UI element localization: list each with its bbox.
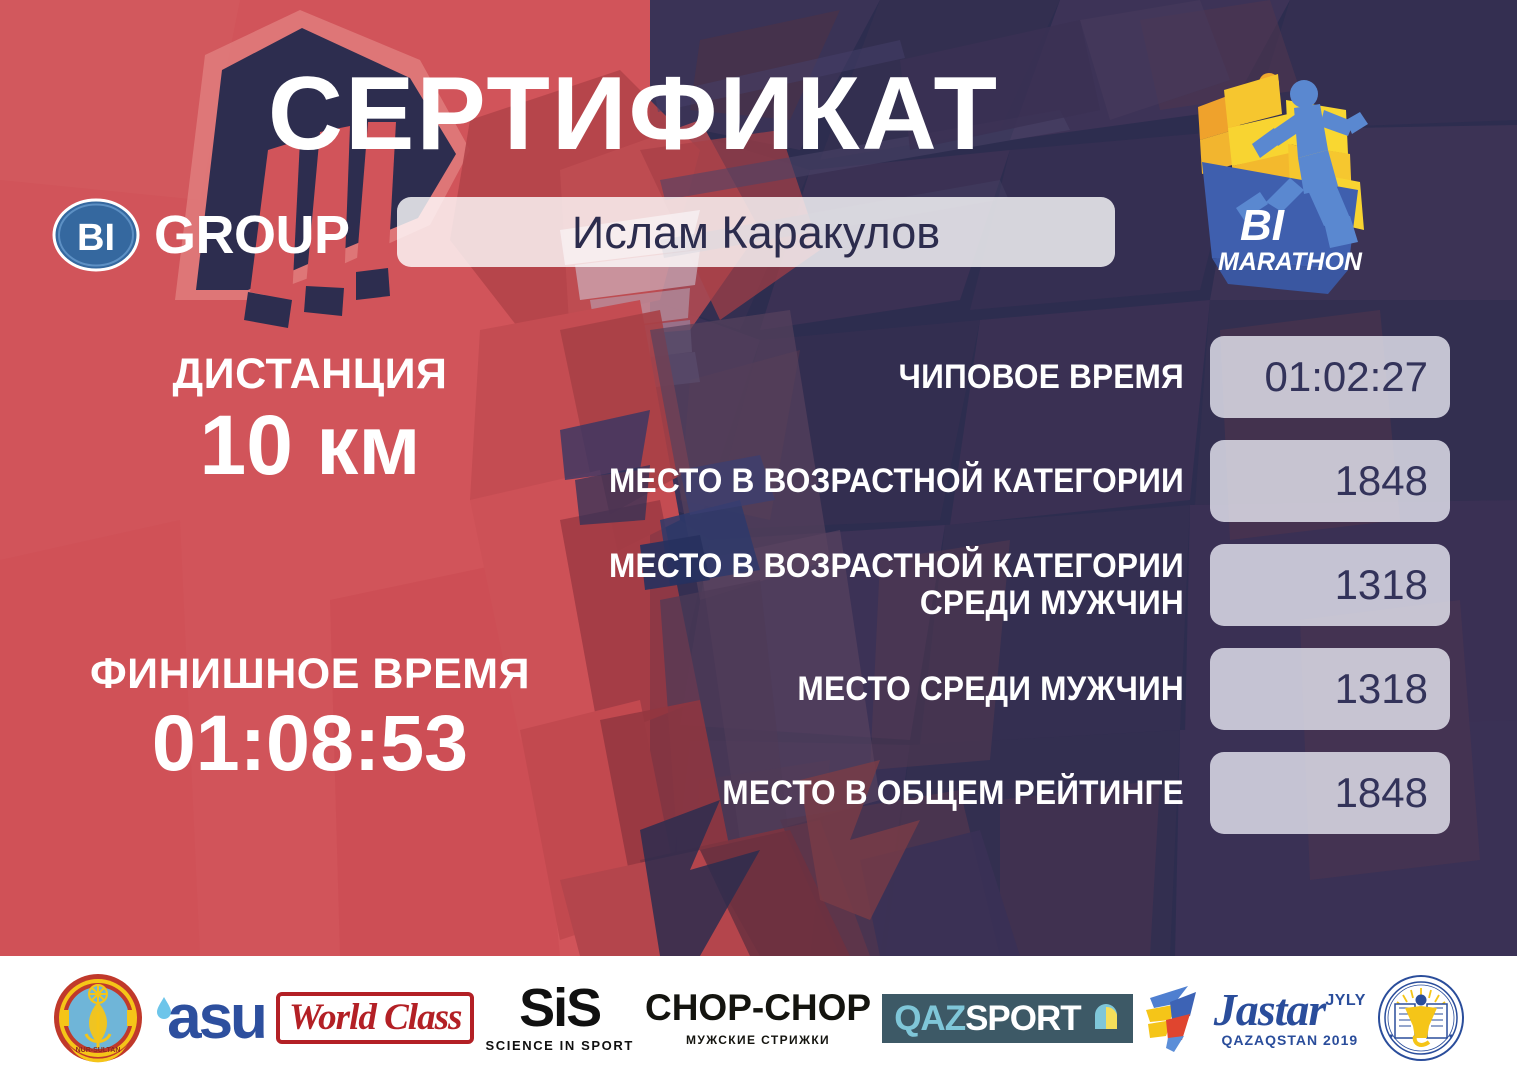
bi-marathon-logo-icon: BI MARATHON bbox=[1178, 62, 1398, 302]
qazsport-mark-icon bbox=[1091, 1003, 1121, 1033]
stat-label: ЧИПОВОЕ ВРЕМЯ bbox=[578, 359, 1210, 396]
marathon-word-text: MARATHON bbox=[1218, 248, 1363, 276]
finish-time-block: ФИНИШНОЕ ВРЕМЯ 01:08:53 bbox=[60, 650, 560, 785]
sponsor-bar: NUR-SULTAN asu World Class SiS SCIENCE I… bbox=[0, 956, 1517, 1080]
bi-group-wordmark: GROUP bbox=[154, 208, 350, 262]
stat-row-overall-place: МЕСТО В ОБЩЕМ РЕЙТИНГЕ 1848 bbox=[530, 752, 1450, 834]
participant-name-badge: Ислам Каракулов bbox=[397, 197, 1115, 267]
jastar-bird-icon bbox=[1144, 982, 1208, 1054]
stat-value: 1318 bbox=[1335, 668, 1428, 710]
sponsor-nur-sultan-emblem: NUR-SULTAN bbox=[52, 968, 144, 1068]
sponsor-qazsport: QAZ SPORT bbox=[882, 968, 1132, 1068]
certificate-canvas: СЕРТИФИКАТ BI GROUP Ислам Каракулов bbox=[0, 0, 1517, 1080]
stat-row-chip-time: ЧИПОВОЕ ВРЕМЯ 01:02:27 bbox=[530, 336, 1450, 418]
sponsor-ministry-emblem bbox=[1377, 968, 1465, 1068]
stat-value: 1848 bbox=[1335, 460, 1428, 502]
sponsor-chop-chop: CHOP-CHOP МУЖСКИЕ СТРИЖКИ bbox=[645, 968, 871, 1068]
stat-value-pill: 1318 bbox=[1210, 648, 1450, 730]
stat-label: МЕСТО В ОБЩЕМ РЕЙТИНГЕ bbox=[578, 775, 1210, 812]
stat-value-pill: 1848 bbox=[1210, 440, 1450, 522]
qazsport-wordmark-sport: SPORT bbox=[965, 1001, 1081, 1036]
stat-value-pill: 1848 bbox=[1210, 752, 1450, 834]
bi-marathon-logo: BI MARATHON bbox=[1178, 62, 1398, 302]
stat-value-pill: 1318 bbox=[1210, 544, 1450, 626]
bi-group-logo: BI GROUP bbox=[52, 198, 350, 272]
ministry-emblem-icon bbox=[1377, 974, 1465, 1062]
sponsor-asu: asu bbox=[155, 968, 265, 1068]
qazsport-wordmark-qaz: QAZ bbox=[894, 1001, 965, 1036]
jastar-subtitle: QAZAQSTAN 2019 bbox=[1221, 1032, 1358, 1048]
stat-row-men-place: МЕСТО СРЕДИ МУЖЧИН 1318 bbox=[530, 648, 1450, 730]
chop-chop-tagline: МУЖСКИЕ СТРИЖКИ bbox=[686, 1033, 830, 1047]
finish-time-label: ФИНИШНОЕ ВРЕМЯ bbox=[60, 650, 560, 698]
asu-wordmark: asu bbox=[167, 990, 265, 1046]
stat-value: 1848 bbox=[1335, 772, 1428, 814]
marathon-bi-text: BI bbox=[1240, 201, 1285, 250]
finish-time-value: 01:08:53 bbox=[60, 700, 560, 785]
stat-row-age-category-place: МЕСТО В ВОЗРАСТНОЙ КАТЕГОРИИ 1848 bbox=[530, 440, 1450, 522]
svg-text:BI: BI bbox=[77, 217, 115, 259]
stat-label: МЕСТО СРЕДИ МУЖЧИН bbox=[578, 671, 1210, 708]
bi-group-mark-icon: BI bbox=[52, 198, 140, 272]
sponsor-world-class: World Class bbox=[276, 968, 474, 1068]
stat-label: МЕСТО В ВОЗРАСТНОЙ КАТЕГОРИИ СРЕДИ МУЖЧИ… bbox=[578, 548, 1210, 621]
nur-sultan-label: NUR-SULTAN bbox=[76, 1047, 121, 1054]
distance-block: ДИСТАНЦИЯ 10 км bbox=[60, 350, 560, 491]
chop-chop-wordmark: CHOP-CHOP bbox=[645, 989, 871, 1026]
participant-name: Ислам Каракулов bbox=[572, 210, 940, 255]
sponsor-sis: SiS SCIENCE IN SPORT bbox=[485, 968, 633, 1068]
nur-sultan-emblem-icon: NUR-SULTAN bbox=[52, 972, 144, 1064]
stat-label: МЕСТО В ВОЗРАСТНОЙ КАТЕГОРИИ bbox=[578, 463, 1210, 500]
stat-value: 01:02:27 bbox=[1265, 356, 1429, 398]
world-class-wordmark: World Class bbox=[289, 999, 461, 1036]
jastar-jyly-badge: JYLY bbox=[1325, 992, 1366, 1010]
stats-list: ЧИПОВОЕ ВРЕМЯ 01:02:27 МЕСТО В ВОЗРАСТНО… bbox=[530, 336, 1450, 856]
stat-value: 1318 bbox=[1335, 564, 1428, 606]
sis-tagline: SCIENCE IN SPORT bbox=[485, 1038, 633, 1053]
sis-wordmark: SiS bbox=[519, 983, 600, 1034]
jastar-wordmark: Jastar bbox=[1214, 988, 1326, 1032]
stat-value-pill: 01:02:27 bbox=[1210, 336, 1450, 418]
stat-row-age-category-men-place: МЕСТО В ВОЗРАСТНОЙ КАТЕГОРИИ СРЕДИ МУЖЧИ… bbox=[530, 544, 1450, 626]
distance-value: 10 км bbox=[60, 400, 560, 491]
distance-label: ДИСТАНЦИЯ bbox=[60, 350, 560, 398]
sponsor-jastar-jyly: Jastar JYLY QAZAQSTAN 2019 bbox=[1144, 968, 1366, 1068]
